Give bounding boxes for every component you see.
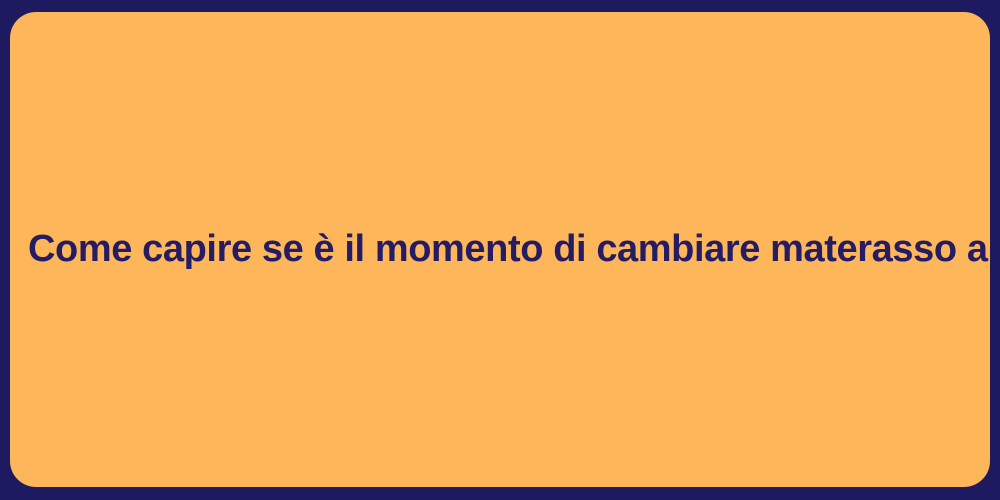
banner-card: Come capire se è il momento di cambiare … — [10, 12, 990, 487]
banner-frame: Come capire se è il momento di cambiare … — [0, 0, 1000, 500]
page-title: Come capire se è il momento di cambiare … — [10, 228, 990, 272]
